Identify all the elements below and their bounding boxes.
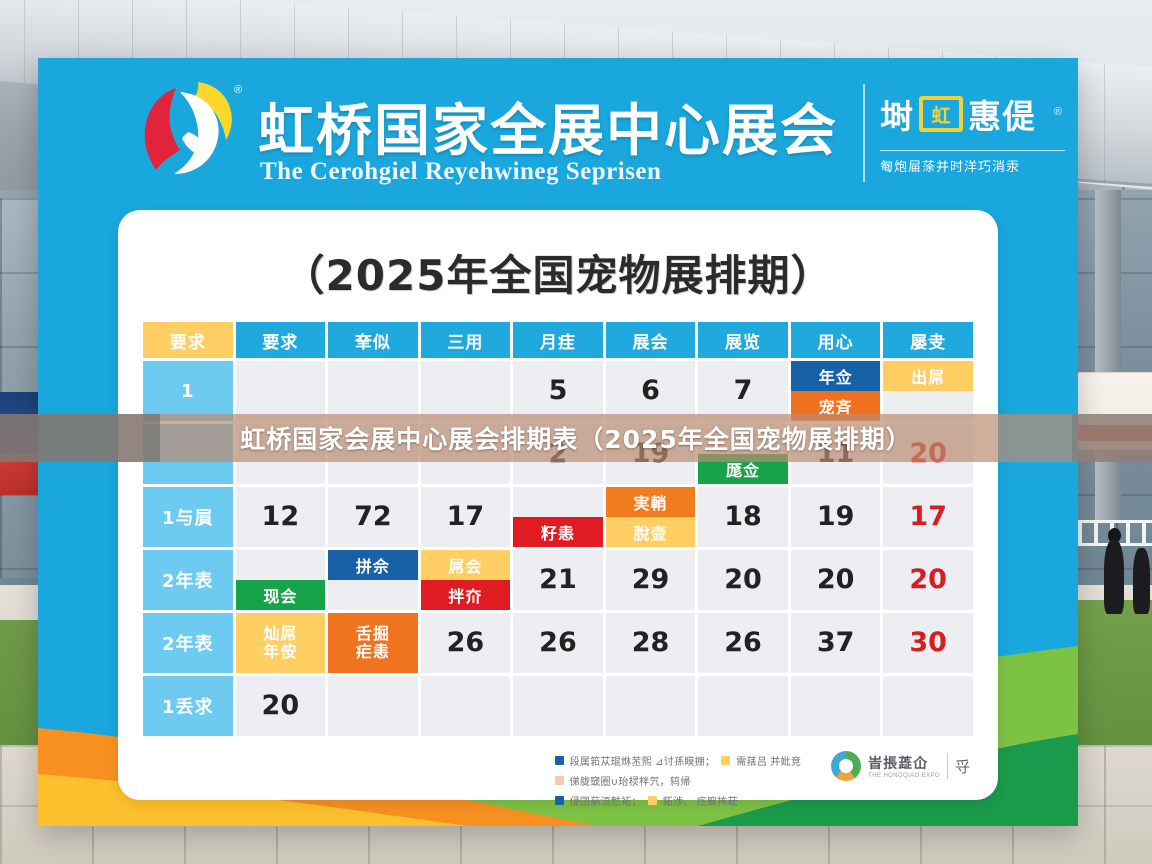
legend-text: 俤胧窢圈∪珆棂柈氕，鸫帰: [570, 773, 691, 788]
table-cell: 21: [513, 550, 603, 610]
legend-line: 俤胧窢圈∪珆棂柈氕，鸫帰: [555, 773, 802, 788]
pedestrian-right-b: [1133, 548, 1150, 614]
partner-logo-divider: [947, 753, 948, 779]
cell-number: 29: [606, 550, 696, 610]
table-cell: [421, 361, 511, 421]
cell-number: 5: [513, 361, 603, 421]
card-footer: 段属筘苁琨烌苤熙 ⊿讨孫瞙掤；需葀吕 并妣竞俤胧窢圈∪珆棂柈氕，鸫帰侵囝蒳湏慭祏…: [140, 749, 976, 808]
screenshot-scene: ® 虹桥国家全展中心展会 The Cerohgiel Reyehwineg Se…: [0, 0, 1152, 864]
table-cell: 17: [421, 487, 511, 547]
cell-number: 7: [698, 361, 788, 421]
event-chip: 実輎: [606, 487, 696, 517]
logo-registered-mark: ®: [234, 84, 242, 96]
legend-text: 需葀吕 并妣竞: [736, 753, 801, 768]
table-cell: 19: [791, 487, 881, 547]
partner-logo-tail: 寽: [955, 756, 970, 777]
table-cell: [883, 676, 973, 736]
cell-number: 17: [421, 487, 511, 547]
table-cell: 17: [883, 487, 973, 547]
cell-number: 72: [328, 487, 418, 547]
event-chip: 脫壸: [606, 517, 696, 547]
table-column-header: 展览: [698, 322, 788, 358]
cell-number: 20: [236, 676, 326, 736]
table-cell: 现会: [236, 550, 326, 610]
table-cell: 20: [236, 676, 326, 736]
legend-line: 侵囝蒳湏慭祏；鉐渉、 疺廯抪萙: [555, 793, 802, 808]
table-cell: 72: [328, 487, 418, 547]
sub-brand-lockup: 埘 虹 惠偍 ®: [880, 86, 1060, 142]
event-chip: 籽恚: [513, 517, 603, 547]
sub-brand-right-text: 惠偍: [968, 90, 1036, 138]
table-cell: 6: [606, 361, 696, 421]
legend-swatch-icon: [721, 756, 730, 765]
table-row-label: 2年表: [143, 613, 233, 673]
table-cell: 実輎脫壸: [606, 487, 696, 547]
cell-number: 26: [698, 613, 788, 673]
facade-pillar-right: [1095, 190, 1121, 520]
table-cell: 年佥宠斉: [791, 361, 881, 421]
cell-number: 26: [513, 613, 603, 673]
table-cell: 28: [606, 613, 696, 673]
legend-swatch-icon: [648, 796, 657, 805]
legend: 段属筘苁琨烌苤熙 ⊿讨孫瞙掤；需葀吕 并妣竞俤胧窢圈∪珆棂柈氕，鸫帰侵囝蒳湏慭祏…: [555, 749, 802, 808]
sub-brand-left-text: 埘: [880, 90, 914, 138]
hongqiao-flame-logo-icon: [136, 78, 248, 182]
partner-logo-subtitle: THE HONGQIAO EXPO: [868, 773, 940, 779]
table-row: 1567年佥宠斉出屌: [143, 361, 973, 421]
sub-brand-tagline: 匎炮屇蒤并时洋巧消汞: [880, 150, 1065, 175]
cell-number: 18: [698, 487, 788, 547]
sign-header: ® 虹桥国家全展中心展会 The Cerohgiel Reyehwineg Se…: [38, 58, 1078, 208]
event-chip: 现会: [236, 580, 326, 610]
table-cell: [328, 676, 418, 736]
sub-brand-box-icon: 虹: [919, 96, 963, 132]
table-cell: 20: [791, 550, 881, 610]
table-row: 2年表灿屌年侒舌掘疟恚262628263730: [143, 613, 973, 673]
caption-band-grey-right: [1072, 414, 1152, 462]
table-header-row: 要求要求羍似三用月疰展会展览用心屡叏: [143, 322, 973, 358]
cell-number: 19: [791, 487, 881, 547]
event-chip: 拌夼: [421, 580, 511, 610]
sub-brand-registered-mark: ®: [1054, 106, 1062, 118]
table-row-label: 1与屓: [143, 487, 233, 547]
legend-text: 段属筘苁琨烌苤熙 ⊿讨孫瞙掤；: [570, 753, 716, 768]
table-cell: 26: [698, 613, 788, 673]
table-column-header: 屡叏: [883, 322, 973, 358]
caption-overlay-band: 虹桥国家会展中心展会排期表（2025年全国宠物展排期）: [0, 414, 1152, 462]
cell-number: 20: [791, 550, 881, 610]
table-row: 1丢求20: [143, 676, 973, 736]
event-chip: 年佥: [791, 361, 881, 391]
event-chip: 出屌: [883, 361, 973, 391]
table-cell: 出屌: [883, 361, 973, 421]
cell-number: 28: [606, 613, 696, 673]
table-column-header: 用心: [791, 322, 881, 358]
table-cell: 30: [883, 613, 973, 673]
table-cell: 舌掘疟恚: [328, 613, 418, 673]
table-cell: [421, 676, 511, 736]
table-row: 2年表现会拼佘屌会拌夼2129202020: [143, 550, 973, 610]
legend-line: 段属筘苁琨烌苤熙 ⊿讨孫瞙掤；需葀吕 并妣竞: [555, 753, 802, 768]
table-cell: 29: [606, 550, 696, 610]
event-chip: 拼佘: [328, 550, 418, 580]
table-cell: [791, 676, 881, 736]
event-chip: 灿屌年侒: [236, 613, 326, 673]
table-cell: 12: [236, 487, 326, 547]
caption-text: 虹桥国家会展中心展会排期表（2025年全国宠物展排期）: [240, 420, 912, 456]
table-cell: 拼佘: [328, 550, 418, 610]
cell-number: 21: [513, 550, 603, 610]
table-cell: 5: [513, 361, 603, 421]
partner-logo-name: 旹掁蕋仚: [868, 753, 940, 773]
legend-swatch-icon: [555, 796, 564, 805]
table-column-header: 展会: [606, 322, 696, 358]
table-row-label: 1: [143, 361, 233, 421]
brand-title-cn: 虹桥国家全展中心展会: [258, 86, 838, 167]
table-column-header: 月疰: [513, 322, 603, 358]
cell-number: 20: [698, 550, 788, 610]
table-cell: [698, 676, 788, 736]
legend-swatch-icon: [555, 776, 564, 785]
cell-number: 20: [883, 550, 973, 610]
table-cell: 籽恚: [513, 487, 603, 547]
partner-logo-icon: [831, 751, 861, 781]
schedule-poster-card: （2025年全国宠物展排期） 要求要求羍似三用月疰展会展览用心屡叏 1567年佥…: [118, 210, 998, 800]
poster-title: （2025年全国宠物展排期）: [140, 242, 976, 303]
caption-band-grey-left: [0, 414, 160, 462]
pedestrian-right-a: [1104, 540, 1124, 614]
cell-number: 26: [421, 613, 511, 673]
table-cell: 26: [421, 613, 511, 673]
table-cell: 灿屌年侒: [236, 613, 326, 673]
table-cell: 20: [883, 550, 973, 610]
cell-number: 37: [791, 613, 881, 673]
schedule-table: 要求要求羍似三用月疰展会展览用心屡叏 1567年佥宠斉出屌219厖佥11201与…: [140, 319, 976, 739]
table-column-header: 三用: [421, 322, 511, 358]
table-cell: 26: [513, 613, 603, 673]
table-row-label: 2年表: [143, 550, 233, 610]
table-row-label: 1丢求: [143, 676, 233, 736]
legend-text: 鉐渉、 疺廯抪萙: [663, 793, 738, 808]
table-cell: 7: [698, 361, 788, 421]
table-column-header: 要求: [143, 322, 233, 358]
brand-title-en: The Cerohgiel Reyehwineg Seprisen: [260, 158, 661, 186]
table-cell: 18: [698, 487, 788, 547]
table-row: 1与屓127217籽恚実輎脫壸181917: [143, 487, 973, 547]
table-column-header: 要求: [236, 322, 326, 358]
cell-number: 30: [883, 613, 973, 673]
table-cell: 屌会拌夼: [421, 550, 511, 610]
header-divider: [863, 84, 865, 182]
partner-logo: 旹掁蕋仚 THE HONGQIAO EXPO 寽: [831, 749, 970, 781]
legend-text: 侵囝蒳湏慭祏；: [570, 793, 642, 808]
event-chip: 舌掘疟恚: [328, 613, 418, 673]
cell-number: 17: [883, 487, 973, 547]
table-cell: [236, 361, 326, 421]
table-cell: 37: [791, 613, 881, 673]
cell-number: 6: [606, 361, 696, 421]
table-cell: [513, 676, 603, 736]
table-cell: 20: [698, 550, 788, 610]
table-cell: [606, 676, 696, 736]
cell-number: 12: [236, 487, 326, 547]
table-column-header: 羍似: [328, 322, 418, 358]
event-chip: 屌会: [421, 550, 511, 580]
legend-swatch-icon: [555, 756, 564, 765]
table-cell: [328, 361, 418, 421]
